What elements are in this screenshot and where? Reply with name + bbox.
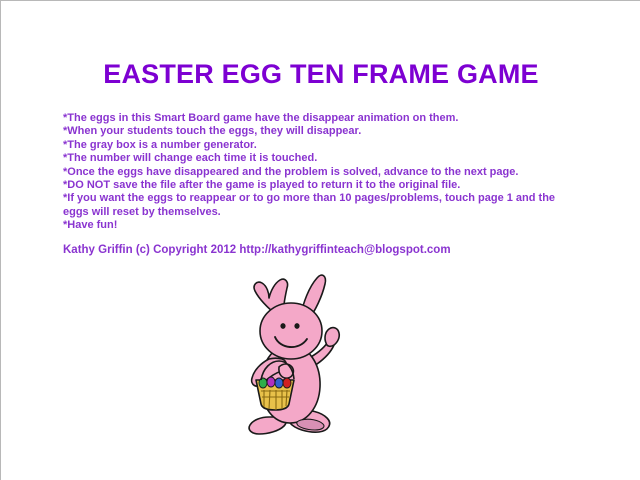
bunny-head bbox=[260, 303, 322, 359]
slide-canvas: EASTER EGG TEN FRAME GAME *The eggs in t… bbox=[0, 0, 640, 480]
page-title: EASTER EGG TEN FRAME GAME bbox=[1, 59, 640, 90]
egg-green bbox=[259, 378, 267, 388]
instruction-line: *DO NOT save the file after the game is … bbox=[63, 179, 563, 192]
instructions-block: *The eggs in this Smart Board game have … bbox=[63, 112, 563, 233]
egg-red bbox=[283, 378, 291, 388]
bunny-eye-left bbox=[280, 323, 285, 329]
instruction-line: *If you want the eggs to reappear or to … bbox=[63, 192, 563, 205]
instruction-line: *Have fun! bbox=[63, 219, 563, 232]
egg-purple bbox=[267, 377, 275, 387]
instruction-line: *The number will change each time it is … bbox=[63, 152, 563, 165]
bunny-eye-right bbox=[294, 323, 299, 329]
easter-bunny-illustration bbox=[239, 273, 345, 445]
copyright-credit: Kathy Griffin (c) Copyright 2012 http://… bbox=[63, 244, 451, 256]
bunny-group bbox=[249, 275, 339, 434]
bunny-waving-paw bbox=[325, 328, 339, 347]
instruction-line: eggs will reset by themselves. bbox=[63, 206, 563, 219]
instruction-line: *Once the eggs have disappeared and the … bbox=[63, 166, 563, 179]
instruction-line: *The eggs in this Smart Board game have … bbox=[63, 112, 563, 125]
instruction-line: *The gray box is a number generator. bbox=[63, 139, 563, 152]
bunny-basket-paw bbox=[279, 364, 294, 378]
instruction-line: *When your students touch the eggs, they… bbox=[63, 125, 563, 138]
egg-blue bbox=[275, 378, 283, 388]
